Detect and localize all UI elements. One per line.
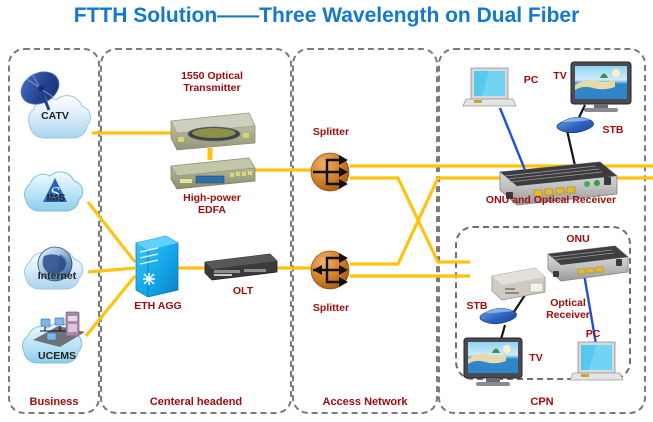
label-stb-top: STB: [596, 124, 630, 136]
label-onu-top: ONU and Optical Receiver: [463, 194, 639, 206]
label-edfa-line1: High-power: [160, 192, 264, 204]
zone-access: [292, 48, 438, 414]
label-stb-bottom: STB: [460, 300, 494, 312]
diagram-canvas: FTTH Solution——Three Wavelength on Dual …: [0, 0, 653, 422]
label-pc-bottom: PC: [578, 328, 608, 340]
label-pc-top: PC: [516, 74, 546, 86]
label-internet: Internet: [22, 270, 92, 282]
zone-label-access: Access Network: [292, 396, 438, 408]
label-transmitter-line2: Transmitter: [160, 82, 264, 94]
label-transmitter: 1550 Optical Transmitter: [160, 70, 264, 94]
label-tv-top: TV: [546, 70, 574, 82]
page-title: FTTH Solution——Three Wavelength on Dual …: [0, 4, 653, 28]
label-orx-line1: Optical: [530, 297, 606, 309]
zone-label-business: Business: [8, 396, 100, 408]
label-onu-bottom: ONU: [548, 233, 608, 245]
label-catv: CATV: [25, 110, 85, 122]
zone-label-cpn: CPN: [438, 396, 646, 408]
label-edfa-line2: EDFA: [160, 204, 264, 216]
label-tv-bottom: TV: [522, 352, 550, 364]
label-transmitter-line1: 1550 Optical: [160, 70, 264, 82]
label-orx-line2: Receiver: [530, 309, 606, 321]
zone-label-headend: Centeral headend: [100, 396, 292, 408]
label-edfa: High-power EDFA: [160, 192, 264, 216]
label-splitter-top: Splitter: [300, 126, 362, 138]
label-olt: OLT: [220, 285, 266, 297]
label-ims: IMS: [28, 192, 84, 204]
label-ucems: UCEMS: [22, 350, 92, 362]
label-splitter-bottom: Splitter: [300, 302, 362, 314]
zone-headend: [100, 48, 292, 414]
label-optical-receiver-bottom: Optical Receiver: [530, 297, 606, 321]
label-ethagg: ETH AGG: [120, 300, 196, 312]
